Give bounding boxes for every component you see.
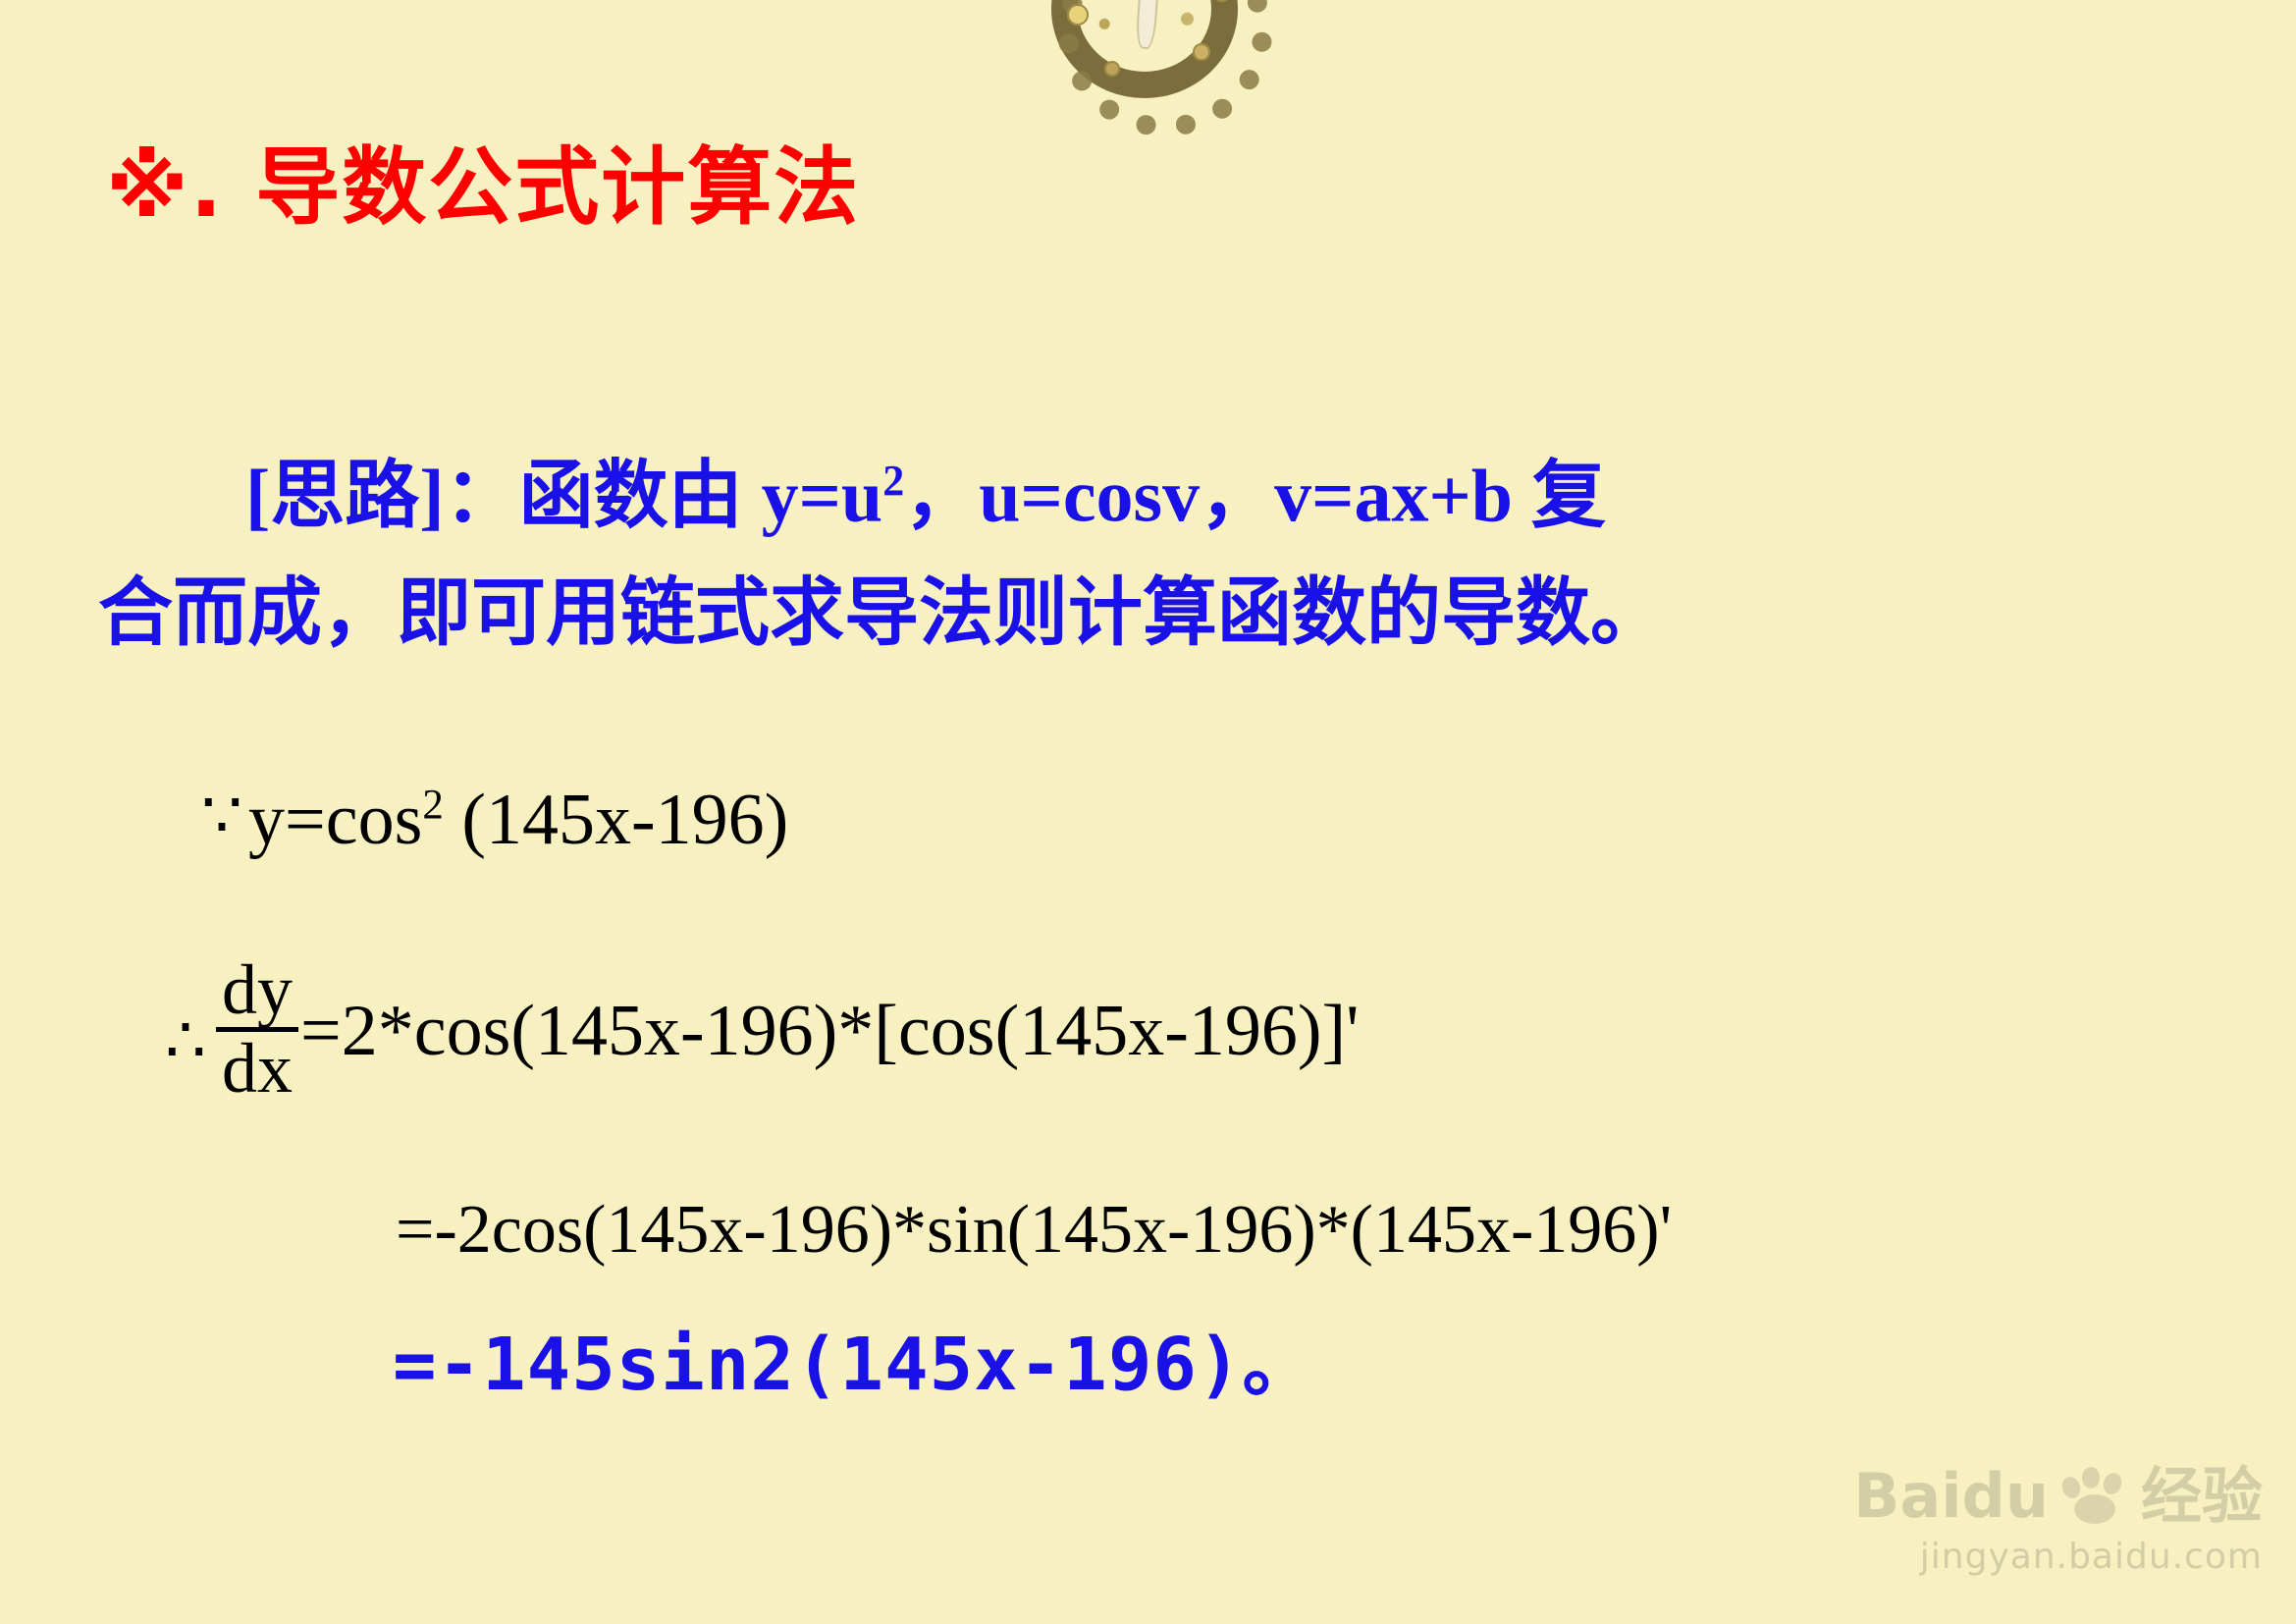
because-symbol-icon: ∵ — [201, 778, 242, 854]
expression-v: v=ax+b — [1274, 455, 1513, 537]
baidu-watermark: Baidu 经验 jingyan.baidu.com — [1853, 1466, 2263, 1577]
idea-line1-tail: 复 — [1513, 455, 1606, 537]
final-answer: =-145sin2(145x-196)。 — [393, 1306, 1315, 1411]
derivation-line-2: ∴ dy dx =2*cos(145x-196)*[cos(145x-196)]… — [165, 957, 1360, 1105]
fraction-denominator: dx — [216, 1034, 298, 1104]
idea-paragraph: [思路]：函数由 y=u2，u=cosv，v=ax+b 复合而成，即可用链式求导… — [98, 422, 2258, 673]
derivation-line-3: =-2cos(145x-196)*sin(145x-196)*(145x-196… — [396, 1191, 1672, 1270]
fraction-dy-dx: dy dx — [216, 955, 298, 1103]
bow-tail — [1135, 0, 1160, 50]
christmas-wreath-icon — [1045, 0, 1259, 110]
idea-lead: 函数由 — [519, 455, 762, 537]
idea-label: [思路]： — [245, 455, 519, 537]
expression-y-exponent: 2 — [882, 457, 904, 505]
wreath-ornament — [1104, 61, 1120, 77]
derivation-line-1-rhs: (145x-196) — [444, 780, 788, 860]
watermark-brand-cn: 经验 — [2141, 1466, 2263, 1527]
expression-y: y=u — [762, 455, 883, 537]
expression-u: u=cosv — [979, 455, 1200, 537]
page-title: ※. 导数公式计算法 — [106, 118, 860, 241]
wreath-bow-icon — [1118, 0, 1175, 49]
derivation-line-1: ∵y=cos2 (145x-196) — [201, 779, 788, 862]
paw-icon — [2058, 1467, 2131, 1526]
derivation-line-2-rhs: =2*cos(145x-196)*[cos(145x-196)]' — [300, 990, 1360, 1073]
fraction-numerator: dy — [216, 955, 298, 1025]
watermark-url: jingyan.baidu.com — [1853, 1537, 2263, 1577]
therefore-symbol-icon: ∴ — [165, 1002, 206, 1079]
derivation-line-1-exponent: 2 — [422, 782, 443, 828]
wreath-ornament — [1193, 43, 1210, 61]
idea-separator-2: ， — [1200, 455, 1274, 537]
derivation-line-1-lhs: y=cos — [248, 780, 422, 860]
wreath-ornament — [1067, 4, 1089, 26]
watermark-brand-text: Baidu — [1853, 1466, 2049, 1527]
idea-separator-1: ， — [904, 455, 979, 537]
watermark-brand-row: Baidu 经验 — [1853, 1466, 2263, 1527]
idea-line2: 合而成，即可用链式求导法则计算函数的导数。 — [98, 572, 1665, 655]
